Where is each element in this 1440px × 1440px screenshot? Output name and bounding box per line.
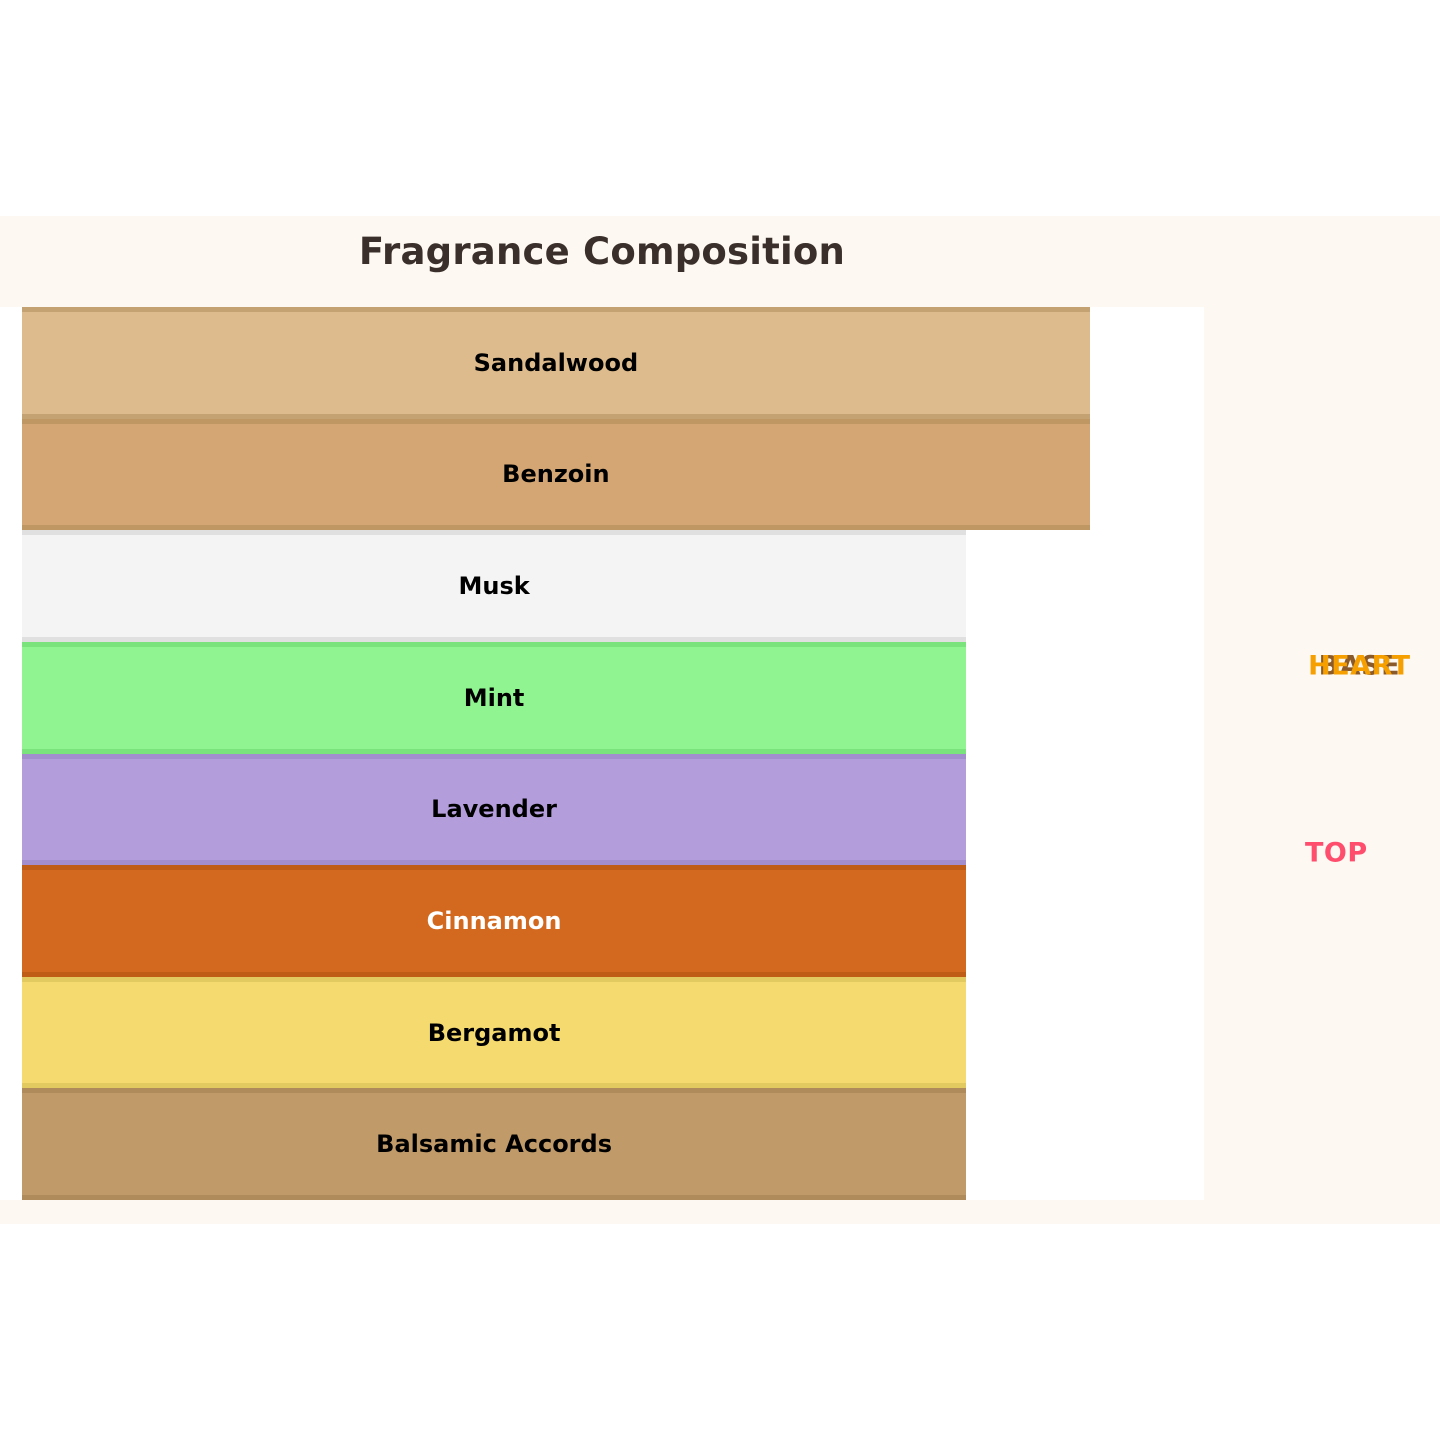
bar-edge-top (22, 419, 1090, 424)
bar-sandalwood[interactable]: Sandalwood (22, 307, 1090, 419)
bar-label: Musk (22, 572, 966, 600)
bar-edge-top (22, 865, 966, 870)
page-title: Fragrance Composition (0, 230, 1204, 273)
stage-label-top: TOP (1305, 838, 1368, 869)
bar-lavender[interactable]: Lavender (22, 754, 966, 866)
bar-label: Lavender (22, 795, 966, 823)
bar-label: Balsamic Accords (22, 1130, 966, 1158)
bar-benzoin[interactable]: Benzoin (22, 419, 1090, 531)
stage-label-heart: HEART (1308, 650, 1410, 681)
bar-label: Sandalwood (22, 349, 1090, 377)
bar-mint[interactable]: Mint (22, 642, 966, 754)
bar-edge-bottom (22, 1195, 966, 1200)
bar-cinnamon[interactable]: Cinnamon (22, 865, 966, 977)
bar-edge-top (22, 307, 1090, 312)
bar-label: Mint (22, 684, 966, 712)
bar-label: Cinnamon (22, 907, 966, 935)
bar-label: Bergamot (22, 1019, 966, 1047)
bar-bergamot[interactable]: Bergamot (22, 977, 966, 1089)
bar-edge-top (22, 1088, 966, 1093)
bar-label: Benzoin (22, 460, 1090, 488)
plot-area: SandalwoodBenzoinMuskMintLavenderCinnamo… (0, 307, 1204, 1200)
bar-balsamic-accords[interactable]: Balsamic Accords (22, 1088, 966, 1200)
bar-musk[interactable]: Musk (22, 530, 966, 642)
bar-edge-top (22, 642, 966, 647)
bar-edge-top (22, 754, 966, 759)
chart-figure: Fragrance Composition SandalwoodBenzoinM… (0, 216, 1440, 1224)
bar-edge-top (22, 977, 966, 982)
bar-edge-top (22, 530, 966, 535)
